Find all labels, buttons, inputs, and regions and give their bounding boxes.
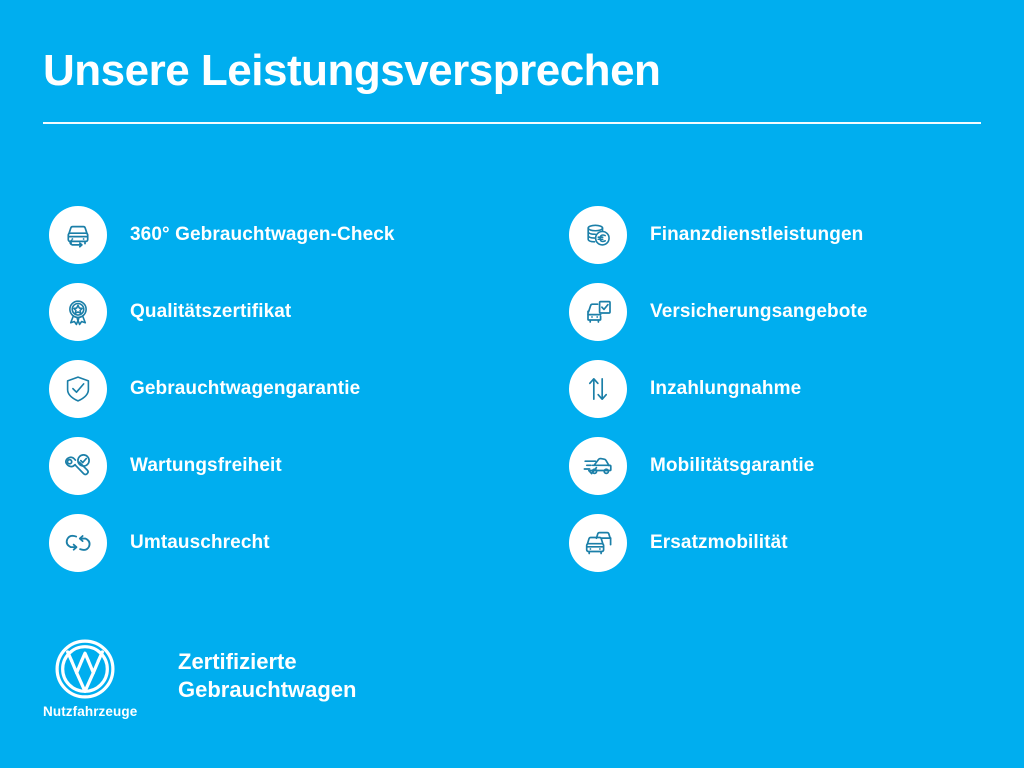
promise-label: Versicherungsangebote — [650, 301, 868, 323]
promise-grid: 360° Gebrauchtwagen-Check Finanzdienstle… — [0, 196, 1024, 581]
promise-item-inzahlungnahme[interactable]: Inzahlungnahme — [520, 350, 1024, 427]
promise-item-qualitaetszertifikat[interactable]: Qualitätszertifikat — [0, 273, 520, 350]
up-down-arrows-icon — [569, 360, 627, 418]
promise-label: 360° Gebrauchtwagen-Check — [130, 224, 395, 246]
promise-label: Finanzdienstleistungen — [650, 224, 863, 246]
brand-footer: Nutzfahrzeuge Zertifizierte Gebrauchtwag… — [43, 638, 356, 719]
promise-item-versicherungsangebote[interactable]: Versicherungsangebote — [520, 273, 1024, 350]
car-speed-icon — [569, 437, 627, 495]
brand-tagline-line2: Gebrauchtwagen — [178, 676, 356, 704]
promise-label: Ersatzmobilität — [650, 532, 788, 554]
promise-label: Wartungsfreiheit — [130, 455, 282, 477]
promise-item-360-check[interactable]: 360° Gebrauchtwagen-Check — [0, 196, 520, 273]
brand-sub-label: Nutzfahrzeuge — [43, 704, 137, 719]
promise-item-wartungsfreiheit[interactable]: Wartungsfreiheit — [0, 427, 520, 504]
coins-euro-icon — [569, 206, 627, 264]
promise-label: Qualitätszertifikat — [130, 301, 291, 323]
two-cars-icon — [569, 514, 627, 572]
title-divider — [43, 122, 981, 124]
promise-item-mobilitaetsgarantie[interactable]: Mobilitätsgarantie — [520, 427, 1024, 504]
promise-item-umtauschrecht[interactable]: Umtauschrecht — [0, 504, 520, 581]
header: Unsere Leistungsversprechen — [43, 48, 981, 124]
exchange-arrows-icon — [49, 514, 107, 572]
promise-label: Mobilitätsgarantie — [650, 455, 814, 477]
brand-tagline-line1: Zertifizierte — [178, 648, 356, 676]
car-document-check-icon — [569, 283, 627, 341]
promise-item-finanzdienstleistungen[interactable]: Finanzdienstleistungen — [520, 196, 1024, 273]
award-rosette-icon — [49, 283, 107, 341]
brand-mark: Nutzfahrzeuge — [43, 638, 141, 719]
page-title: Unsere Leistungsversprechen — [43, 48, 981, 94]
wrench-check-icon — [49, 437, 107, 495]
brand-tagline: Zertifizierte Gebrauchtwagen — [178, 648, 356, 704]
promise-item-gebrauchtwagengarantie[interactable]: Gebrauchtwagengarantie — [0, 350, 520, 427]
shield-check-icon — [49, 360, 107, 418]
volkswagen-logo — [54, 638, 116, 700]
promise-label: Inzahlungnahme — [650, 378, 801, 400]
promise-item-ersatzmobilitaet[interactable]: Ersatzmobilität — [520, 504, 1024, 581]
car-360-check-icon — [49, 206, 107, 264]
promise-label: Umtauschrecht — [130, 532, 270, 554]
promise-label: Gebrauchtwagengarantie — [130, 378, 360, 400]
